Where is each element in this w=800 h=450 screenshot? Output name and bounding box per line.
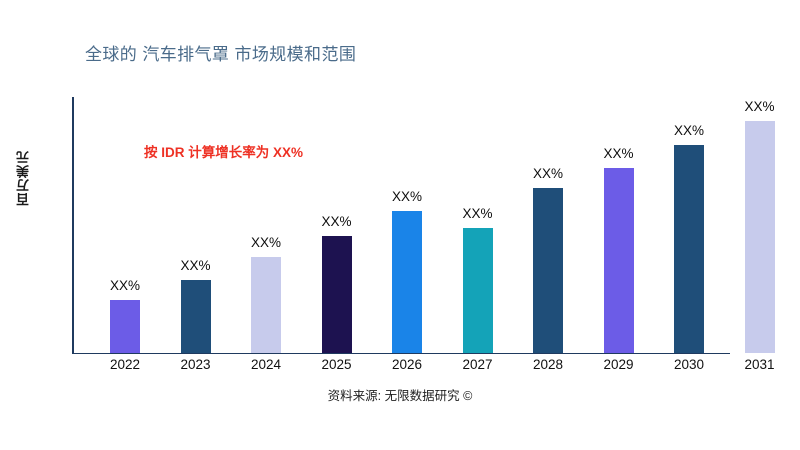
chart-canvas: 全球的 汽车排气罩 市场规模和范围 百万美元 按 IDR 计算增长率为 XX% … [0,0,800,450]
x-tick-2029: 2029 [589,357,649,372]
bar-2026[interactable] [392,211,422,353]
bar-value-label-2028: XX% [518,166,578,181]
x-tick-2024: 2024 [236,357,296,372]
bar-value-label-2025: XX% [307,214,367,229]
bar-2024[interactable] [251,257,281,353]
x-tick-2027: 2027 [448,357,508,372]
bar-value-label-2031: XX% [730,99,790,114]
plot-area: XX%2022XX%2023XX%2024XX%2025XX%2026XX%20… [0,0,800,450]
x-tick-2030: 2030 [659,357,719,372]
bar-2027[interactable] [463,228,493,353]
bar-2023[interactable] [181,280,211,353]
bar-value-label-2030: XX% [659,123,719,138]
bar-2028[interactable] [533,188,563,353]
x-tick-2031: 2031 [730,357,790,372]
bar-2031[interactable] [745,121,775,353]
x-tick-2022: 2022 [95,357,155,372]
x-tick-2025: 2025 [307,357,367,372]
bar-2025[interactable] [322,236,352,353]
bar-value-label-2026: XX% [377,189,437,204]
bar-value-label-2027: XX% [448,206,508,221]
source-note: 资料来源: 无限数据研究 © [0,385,800,404]
bar-value-label-2023: XX% [166,258,226,273]
bar-2029[interactable] [604,168,634,353]
bar-2030[interactable] [674,145,704,353]
bar-value-label-2024: XX% [236,235,296,250]
x-tick-2026: 2026 [377,357,437,372]
x-tick-2028: 2028 [518,357,578,372]
bar-value-label-2029: XX% [589,146,649,161]
bar-2022[interactable] [110,300,140,353]
x-tick-2023: 2023 [166,357,226,372]
bar-value-label-2022: XX% [95,278,155,293]
